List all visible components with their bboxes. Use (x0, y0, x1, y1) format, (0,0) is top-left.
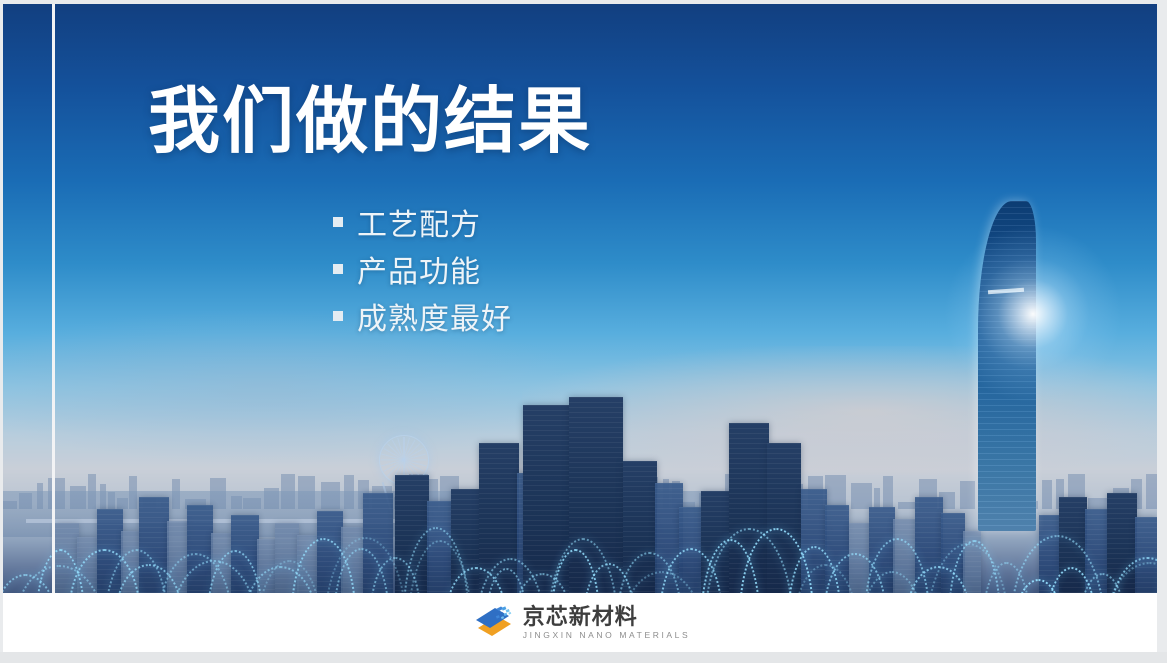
building (915, 497, 943, 593)
footer-bar: 京芯新材料 JINGXIN NANO MATERIALS (3, 593, 1157, 652)
building (317, 511, 343, 593)
left-vertical-divider (52, 4, 55, 593)
bullet-list: 工艺配方 产品功能 成熟度最好 (333, 198, 512, 339)
square-bullet-icon (333, 217, 343, 227)
building (275, 523, 299, 593)
slide-root: 我们做的结果 工艺配方 产品功能 成熟度最好 (0, 0, 1167, 663)
building (869, 507, 895, 593)
building (231, 515, 259, 593)
logo-name-cn: 京芯新材料 (523, 605, 691, 628)
list-item: 成熟度最好 (333, 292, 512, 339)
building (849, 523, 869, 593)
building (1085, 509, 1109, 593)
building (451, 489, 481, 593)
tower-light-band (988, 288, 1024, 295)
building (963, 531, 981, 593)
building (523, 405, 569, 593)
bottom-edge-strip (0, 652, 1167, 663)
jingxin-pixel-logo-icon (470, 606, 514, 639)
building (825, 505, 849, 593)
building (701, 491, 731, 593)
building (97, 509, 123, 593)
building (139, 497, 169, 593)
logo-name-en: JINGXIN NANO MATERIALS (523, 630, 691, 640)
building (767, 443, 801, 593)
page-title: 我们做的结果 (148, 85, 592, 161)
building (1059, 497, 1087, 593)
bullet-label: 产品功能 (357, 247, 481, 291)
building (1107, 493, 1137, 593)
building (211, 533, 231, 593)
square-bullet-icon (333, 264, 343, 274)
building (257, 539, 275, 593)
building (679, 507, 703, 593)
bullet-label: 成熟度最好 (357, 294, 512, 338)
logo-text: 京芯新材料 JINGXIN NANO MATERIALS (523, 605, 691, 641)
company-logo: 京芯新材料 JINGXIN NANO MATERIALS (470, 605, 691, 641)
building (1135, 517, 1157, 593)
building (77, 537, 97, 593)
building (167, 521, 189, 593)
building (427, 501, 453, 593)
building (801, 489, 827, 593)
building (623, 461, 657, 593)
building (893, 519, 915, 593)
building (341, 527, 363, 593)
building (121, 531, 139, 593)
building (363, 493, 393, 593)
building (297, 535, 317, 593)
bullet-label: 工艺配方 (357, 200, 481, 244)
building (187, 505, 213, 593)
building (395, 475, 429, 593)
square-bullet-icon (333, 311, 343, 321)
building (569, 397, 623, 593)
slide-background-image: 我们做的结果 工艺配方 产品功能 成熟度最好 (3, 4, 1157, 593)
curved-skyscraper (978, 201, 1036, 531)
building (1039, 515, 1061, 593)
building (55, 523, 79, 593)
building (941, 513, 965, 593)
list-item: 工艺配方 (333, 198, 512, 245)
building (479, 443, 519, 593)
building (729, 423, 769, 593)
list-item: 产品功能 (333, 245, 512, 292)
